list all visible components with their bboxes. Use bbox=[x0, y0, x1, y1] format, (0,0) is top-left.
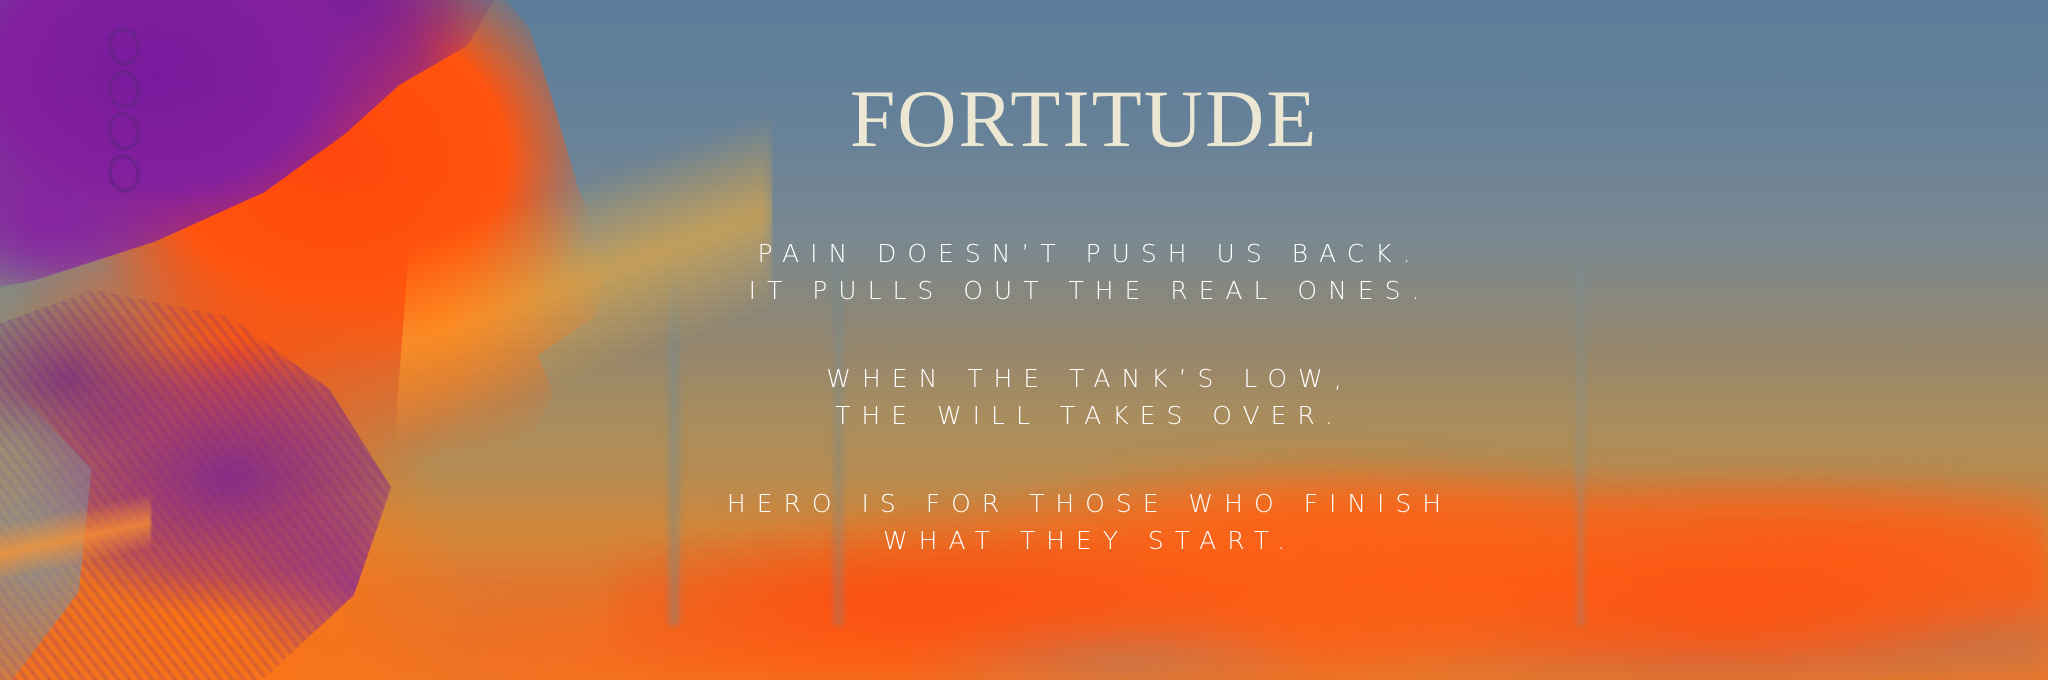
stanza-hero: HERO IS FOR THOSE WHO FINISH WHAT THEY S… bbox=[120, 486, 2048, 559]
banner-copy: FORTITUDE PAIN DOESN’T PUSH US BACK. IT … bbox=[0, 0, 2048, 680]
stanza-hero-line-2: WHAT THEY START. bbox=[120, 523, 2048, 560]
fortitude-banner: FORTITUDE PAIN DOESN’T PUSH US BACK. IT … bbox=[0, 0, 2048, 680]
stanza-list: PAIN DOESN’T PUSH US BACK. IT PULLS OUT … bbox=[0, 236, 2048, 559]
stanza-tank: WHEN THE TANK’S LOW, THE WILL TAKES OVER… bbox=[120, 361, 2048, 434]
stanza-pain-line-1: PAIN DOESN’T PUSH US BACK. bbox=[120, 236, 2048, 273]
stanza-tank-line-1: WHEN THE TANK’S LOW, bbox=[120, 361, 2048, 398]
stanza-tank-line-2: THE WILL TAKES OVER. bbox=[120, 398, 2048, 435]
stanza-hero-line-1: HERO IS FOR THOSE WHO FINISH bbox=[120, 486, 2048, 523]
stanza-pain: PAIN DOESN’T PUSH US BACK. IT PULLS OUT … bbox=[120, 236, 2048, 309]
page-title: FORTITUDE bbox=[0, 78, 2048, 160]
stanza-pain-line-2: IT PULLS OUT THE REAL ONES. bbox=[120, 273, 2048, 310]
